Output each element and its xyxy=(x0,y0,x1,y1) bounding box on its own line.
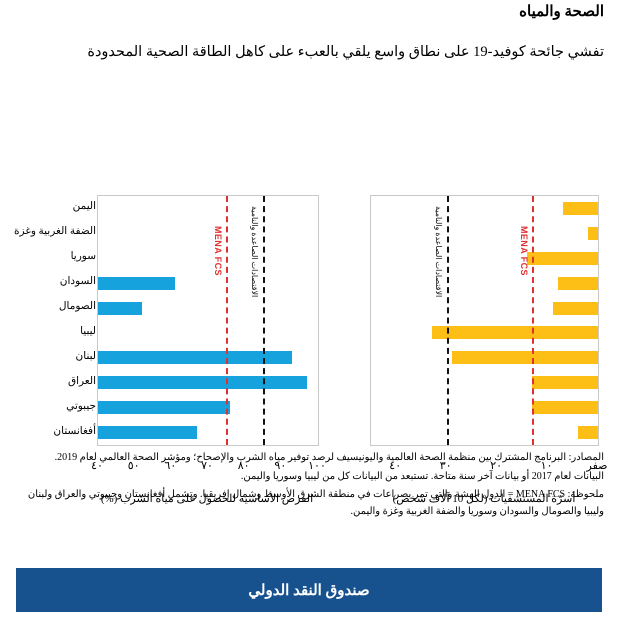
footer-label: صندوق النقد الدولي xyxy=(248,581,369,600)
bar-beds-2 xyxy=(527,252,598,265)
country-label-1: الضفة الغربية وغزة xyxy=(14,226,96,238)
chart-hospital-beds: MENA FCSالاقتصادات الصاعدة والنامية صفر١… xyxy=(318,95,618,415)
bar-water-8 xyxy=(98,401,230,414)
country-label-7: العراق xyxy=(68,376,96,388)
bar-beds-7 xyxy=(532,376,598,389)
bar-water-9 xyxy=(98,426,197,439)
footnotes: المصادر: البرنامج المشترك بين منظمة الصح… xyxy=(14,450,604,522)
country-label-2: سوريا xyxy=(71,251,96,263)
bar-beds-5 xyxy=(432,326,598,339)
page-subtitle: تفشي جائحة كوفيد-19 على نطاق واسع يلقي ب… xyxy=(14,42,604,62)
hospital-beds-plot-area: MENA FCSالاقتصادات الصاعدة والنامية xyxy=(370,195,599,446)
country-label-9: أفغانستان xyxy=(53,426,96,438)
comparator-reference-line xyxy=(263,196,265,445)
footnote-1: البيانات لعام 2017 أو بيانات آخر سنة متا… xyxy=(14,469,604,486)
country-label-6: لبنان xyxy=(76,351,96,363)
bar-beds-1 xyxy=(588,227,598,240)
bar-beds-0 xyxy=(563,202,598,215)
bar-water-4 xyxy=(98,302,142,315)
mena-fcs-reference-line xyxy=(532,196,534,445)
country-label-5: ليبيا xyxy=(80,326,96,338)
comparator-reference-line xyxy=(447,196,449,445)
country-label-0: اليمن xyxy=(73,201,96,213)
country-label-4: الصومال xyxy=(59,301,96,313)
bar-beds-9 xyxy=(578,426,598,439)
mena-fcs-reference-line xyxy=(226,196,228,445)
chart-water-access: اليمنالضفة الغربية وغزةسورياالسودانالصوم… xyxy=(0,95,320,415)
bar-water-7 xyxy=(98,376,307,389)
footnote-2: ملحوظة: MENA FCS = الدول الهشة والتي تمر… xyxy=(14,487,604,520)
page-title: الصحة والمياه xyxy=(14,2,604,22)
comparator-line-label: الاقتصادات الصاعدة والنامية xyxy=(250,206,259,297)
water-access-plot-area: MENA FCSالاقتصادات الصاعدة والنامية xyxy=(97,195,319,446)
imf-footer-banner: صندوق النقد الدولي xyxy=(16,568,602,612)
comparator-line-label: الاقتصادات الصاعدة والنامية xyxy=(434,206,443,297)
bar-beds-3 xyxy=(558,277,598,290)
bar-beds-4 xyxy=(553,302,598,315)
mena-fcs-line-label: MENA FCS xyxy=(213,226,222,276)
country-label-3: السودان xyxy=(60,276,96,288)
country-label-8: جيبوتي xyxy=(66,401,96,413)
footnote-0: المصادر: البرنامج المشترك بين منظمة الصح… xyxy=(14,450,604,467)
bar-water-3 xyxy=(98,277,175,290)
bar-beds-6 xyxy=(452,351,598,364)
mena-fcs-line-label: MENA FCS xyxy=(519,226,528,276)
country-axis-labels: اليمنالضفة الغربية وغزةسورياالسودانالصوم… xyxy=(8,195,96,443)
infographic-page: الصحة والمياه تفشي جائحة كوفيد-19 على نط… xyxy=(0,0,618,629)
bar-beds-8 xyxy=(532,401,598,414)
